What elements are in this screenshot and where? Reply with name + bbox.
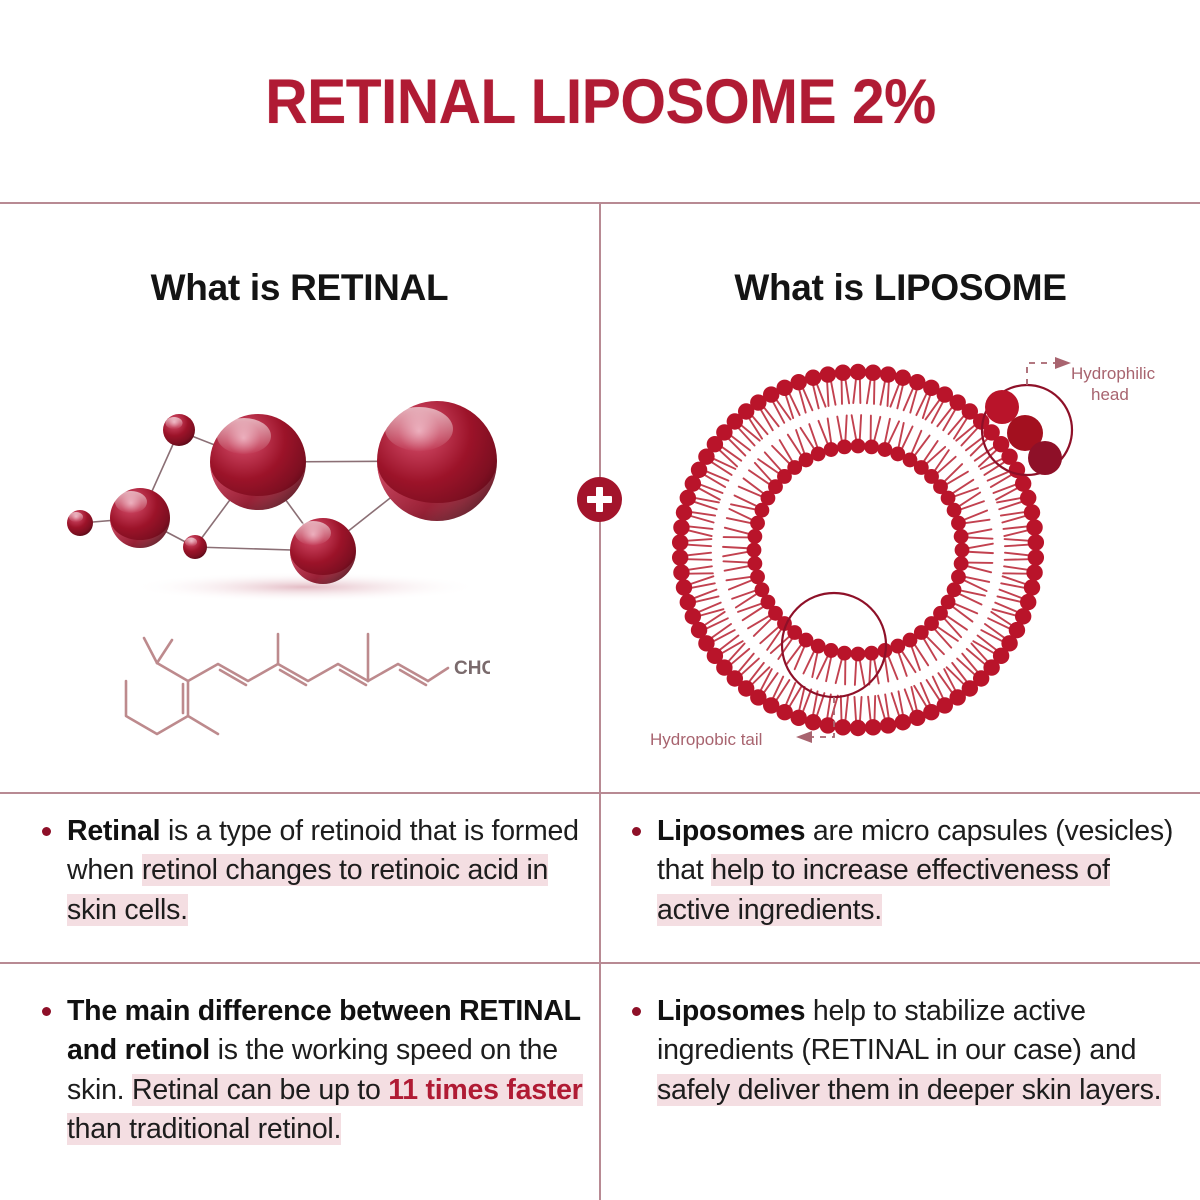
retinal-molecule-illustration [55,375,535,615]
bullet-text-top-right: Liposomes are micro capsules (vesicles) … [657,812,1180,930]
label-hydrophilic-head-line2: head [1071,384,1129,405]
bullet-text-top-left: Retinal is a type of retinoid that is fo… [67,812,582,930]
list-item: The main difference between RETINAL and … [42,992,587,1149]
bullet-highlight-top-right: help to increase effectiveness of active… [657,854,1110,925]
bullet-panel-bottom-left: The main difference between RETINAL and … [42,992,587,1149]
label-hydrophilic-head: Hydrophilic head [1071,363,1191,406]
bullet-hl-emphasis: 11 times faster [388,1074,582,1106]
liposome-bilayer [672,364,1044,736]
label-hydrophobic-tail: Hydropobic tail [650,729,810,750]
molecule-spheres [67,401,497,584]
bullet-dot-icon [632,827,641,836]
bullet-lead-top-left: Retinal [67,815,160,847]
retinal-chemical-structure: CHO [110,618,490,743]
list-item: Liposomes help to stabilize active ingre… [632,992,1180,1110]
chem-label-cho: CHO [454,658,490,679]
column-heading-liposome: What is LIPOSOME [601,258,1200,318]
bullet-lead-top-right: Liposomes [657,815,805,847]
leader-line-head [1027,363,1055,385]
bullet-highlight-bottom-left: Retinal can be up to 11 times faster tha… [67,1074,583,1145]
list-item: Liposomes are micro capsules (vesicles) … [632,812,1180,930]
chem-skeleton [126,634,448,734]
liposome-illustration [630,345,1200,770]
arrow-head-right [1055,357,1071,369]
label-hydrophilic-head-line1: Hydrophilic [1071,364,1155,383]
infographic-page: RETINAL LIPOSOME 2% What is RETINAL What… [0,0,1200,1200]
bullet-text-bottom-left: The main difference between RETINAL and … [67,992,587,1149]
bullet-panel-top-right: Liposomes are micro capsules (vesicles) … [632,812,1180,930]
bullet-dot-icon [42,1007,51,1016]
page-title: RETINAL LIPOSOME 2% [265,66,935,138]
bullet-highlight-bottom-right: safely deliver them in deeper skin layer… [657,1074,1161,1106]
plus-bar-vertical [596,487,603,512]
bullet-dot-icon [42,827,51,836]
list-item: Retinal is a type of retinoid that is fo… [42,812,582,930]
plus-icon [577,477,622,522]
bullet-hl-post: than traditional retinol. [67,1113,341,1145]
bullet-text-bottom-right: Liposomes help to stabilize active ingre… [657,992,1180,1110]
bullet-panel-bottom-right: Liposomes help to stabilize active ingre… [632,992,1180,1110]
bullet-panel-top-left: Retinal is a type of retinoid that is fo… [42,812,582,930]
title-bar: RETINAL LIPOSOME 2% [0,0,1200,203]
bullet-lead-bottom-right: Liposomes [657,995,805,1027]
bullet-hl-pre: Retinal can be up to [132,1074,388,1106]
column-heading-retinal: What is RETINAL [0,258,599,318]
bullet-dot-icon [632,1007,641,1016]
divider-vertical [599,202,601,1200]
